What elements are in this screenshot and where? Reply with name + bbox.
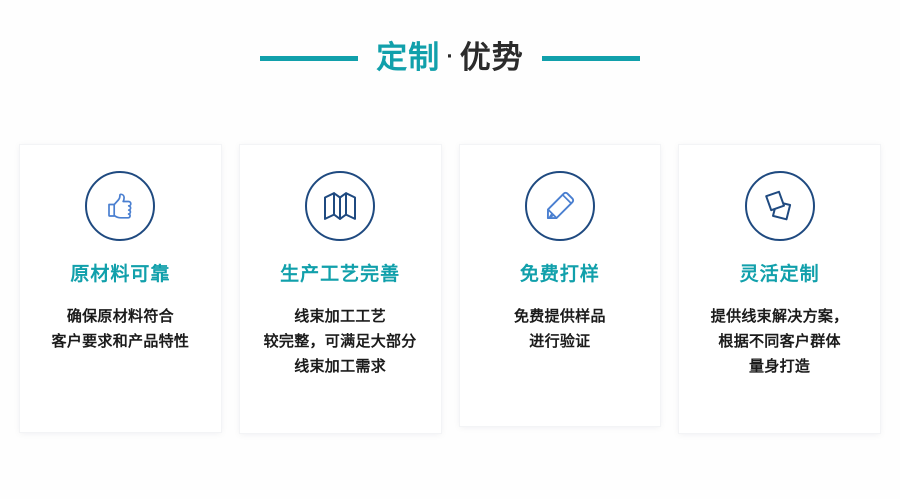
description-line: 根据不同客户群体 [711,329,849,354]
advantage-card-list: 原材料可靠 确保原材料符合 客户要求和产品特性 生产工艺完善 线束加工工艺 较完… [20,145,880,433]
icon-ring-1 [85,171,155,241]
description-line: 客户要求和产品特性 [52,329,190,354]
advantage-card-4-description: 提供线束解决方案， 根据不同客户群体 量身打造 [711,304,849,379]
pencil-icon [543,189,577,223]
heading-rule-left [260,56,358,61]
advantage-card-2[interactable]: 生产工艺完善 线束加工工艺 较完整，可满足大部分 线束加工需求 [240,145,441,433]
heading-rule-right [542,56,640,61]
advantage-card-2-description: 线束加工工艺 较完整，可满足大部分 线束加工需求 [264,304,417,379]
section-heading: 定制 · 优势 [0,28,900,88]
description-line: 较完整，可满足大部分 [264,329,417,354]
advantage-card-3[interactable]: 免费打样 免费提供样品 进行验证 [460,145,661,426]
description-line: 进行验证 [514,329,606,354]
page-title: 定制 · 优势 [376,43,523,74]
advantage-card-1[interactable]: 原材料可靠 确保原材料符合 客户要求和产品特性 [20,145,221,432]
advantage-card-2-title: 生产工艺完善 [280,263,400,286]
advantage-card-4[interactable]: 灵活定制 提供线束解决方案， 根据不同客户群体 量身打造 [679,145,880,433]
description-line: 量身打造 [711,354,849,379]
folded-map-icon [322,190,358,222]
description-line: 提供线束解决方案， [711,304,849,329]
description-line: 线束加工需求 [264,354,417,379]
advantage-card-3-title: 免费打样 [520,263,600,286]
icon-ring-4 [745,171,815,241]
description-line: 确保原材料符合 [52,304,190,329]
advantage-card-1-description: 确保原材料符合 客户要求和产品特性 [52,304,190,354]
page-title-secondary: 优势 [460,43,524,74]
icon-ring-2 [305,171,375,241]
advantage-card-4-title: 灵活定制 [740,263,820,286]
page-title-separator: · [442,49,457,66]
icon-ring-3 [525,171,595,241]
advantage-card-3-description: 免费提供样品 进行验证 [514,304,606,354]
description-line: 线束加工工艺 [264,304,417,329]
description-line: 免费提供样品 [514,304,606,329]
advantage-card-1-title: 原材料可靠 [70,263,170,286]
page-title-primary: 定制 [376,43,440,74]
thumbs-up-icon [103,189,137,223]
layers-cards-icon [762,189,798,223]
